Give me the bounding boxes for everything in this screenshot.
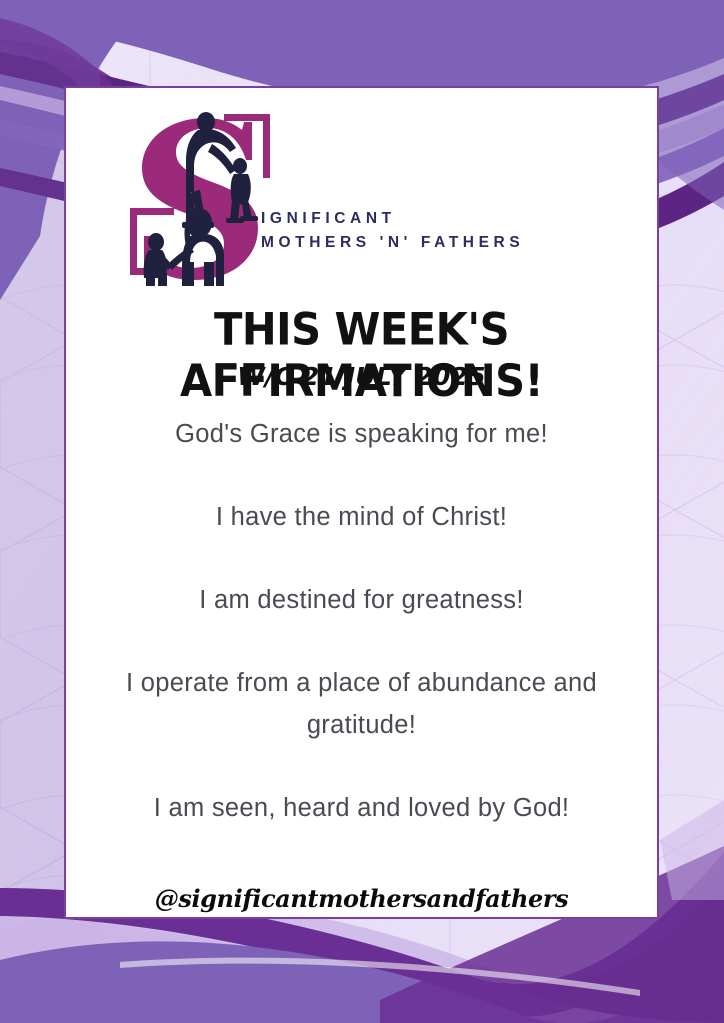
logo-wordmark-line2: MOTHERS 'N' FATHERS [261,230,524,256]
affirmation-item: I am destined for greatness! [66,579,657,621]
affirmation-item: I am seen, heard and loved by God! [66,787,657,829]
logo-wordmark: IGNIFICANT MOTHERS 'N' FATHERS [261,208,524,256]
affirmation-item: God's Grace is speaking for me! [66,413,657,455]
content-card: IGNIFICANT MOTHERS 'N' FATHERS THIS WEEK… [64,86,659,919]
logo-monogram-icon [102,96,522,286]
brand-logo: IGNIFICANT MOTHERS 'N' FATHERS [66,96,657,301]
affirmations-poster: IGNIFICANT MOTHERS 'N' FATHERS THIS WEEK… [0,0,724,1023]
affirmations-list: God's Grace is speaking for me! I have t… [66,413,657,829]
social-handle: @significantmothersandfathers [66,884,657,913]
page-subtitle: W/C 21 JULY 2025 [66,362,657,391]
page-title: THIS WEEK'S AFFIRMATIONS! [54,304,669,407]
affirmation-item: I have the mind of Christ! [66,496,657,538]
affirmation-item: I operate from a place of abundance and … [66,662,657,746]
logo-wordmark-line1: IGNIFICANT [261,208,524,230]
